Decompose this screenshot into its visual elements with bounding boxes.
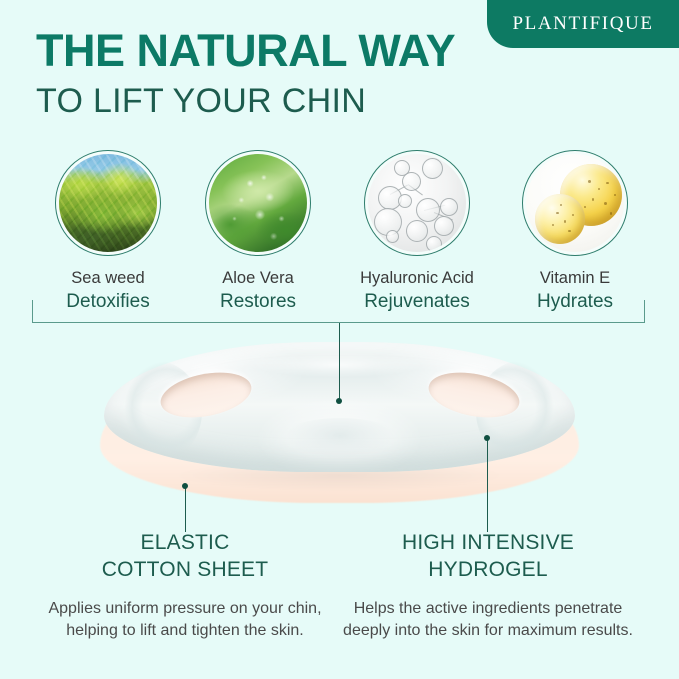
ingredient-circle-frame: [205, 150, 311, 256]
ingredient-benefit: Hydrates: [495, 291, 655, 313]
callout-title: HIGH INTENSIVE HYDROGEL: [343, 530, 633, 584]
ingredient-item-vitamin-e: Vitamin E Hydrates: [495, 150, 655, 313]
aloe-vera-photo-icon: [209, 154, 307, 252]
divider-cap-right: [644, 300, 645, 323]
callout-title-line2: COTTON SHEET: [102, 558, 269, 581]
ingredient-item-aloe-vera: Aloe Vera Restores: [178, 150, 338, 313]
ingredient-circle-frame: [364, 150, 470, 256]
leader-line-cotton-sheet: [185, 486, 186, 532]
ingredient-item-hyaluronic-acid: Hyaluronic Acid Rejuvenates: [337, 150, 497, 313]
brand-badge: PLANTIFIQUE: [487, 0, 679, 48]
callout-body: Helps the active ingredients penetrate d…: [343, 598, 633, 643]
callout-title-line1: HIGH INTENSIVE: [402, 531, 574, 554]
seaweed-photo-icon: [59, 154, 157, 252]
page-title: THE NATURAL WAY: [36, 28, 455, 73]
ingredient-circle-frame: [55, 150, 161, 256]
callout-elastic-cotton-sheet: ELASTIC COTTON SHEET Applies uniform pre…: [40, 530, 330, 643]
hyaluronic-bubbles-photo-icon: [368, 154, 466, 252]
callout-body: Applies uniform pressure on your chin, h…: [40, 598, 330, 643]
ingredient-name: Aloe Vera: [178, 269, 338, 288]
ingredient-name: Sea weed: [28, 269, 188, 288]
leader-line-hydrogel-top: [339, 323, 340, 401]
divider-cap-left: [32, 300, 33, 323]
ingredient-name: Vitamin E: [495, 269, 655, 288]
ingredient-circle-frame: [522, 150, 628, 256]
vitamin-e-oil-droplets-photo-icon: [526, 154, 624, 252]
ingredients-row: Sea weed Detoxifies Aloe Vera Restores: [0, 150, 679, 320]
ingredient-benefit: Detoxifies: [28, 291, 188, 313]
ingredient-benefit: Rejuvenates: [337, 291, 497, 313]
callout-title-line1: ELASTIC: [141, 531, 230, 554]
ingredient-benefit: Restores: [178, 291, 338, 313]
callout-title: ELASTIC COTTON SHEET: [40, 530, 330, 584]
callout-high-intensive-hydrogel: HIGH INTENSIVE HYDROGEL Helps the active…: [343, 530, 633, 643]
hydrogel-center-dip: [266, 418, 414, 482]
page-subtitle: TO LIFT YOUR CHIN: [36, 84, 366, 118]
infographic-page: PLANTIFIQUE THE NATURAL WAY TO LIFT YOUR…: [0, 0, 679, 679]
ingredient-item-sea-weed: Sea weed Detoxifies: [28, 150, 188, 313]
ingredient-name: Hyaluronic Acid: [337, 269, 497, 288]
callout-title-line2: HYDROGEL: [428, 558, 547, 581]
hydrogel-gloss-highlight: [218, 348, 458, 382]
brand-name: PLANTIFIQUE: [512, 13, 653, 35]
leader-line-hydrogel: [487, 438, 488, 532]
